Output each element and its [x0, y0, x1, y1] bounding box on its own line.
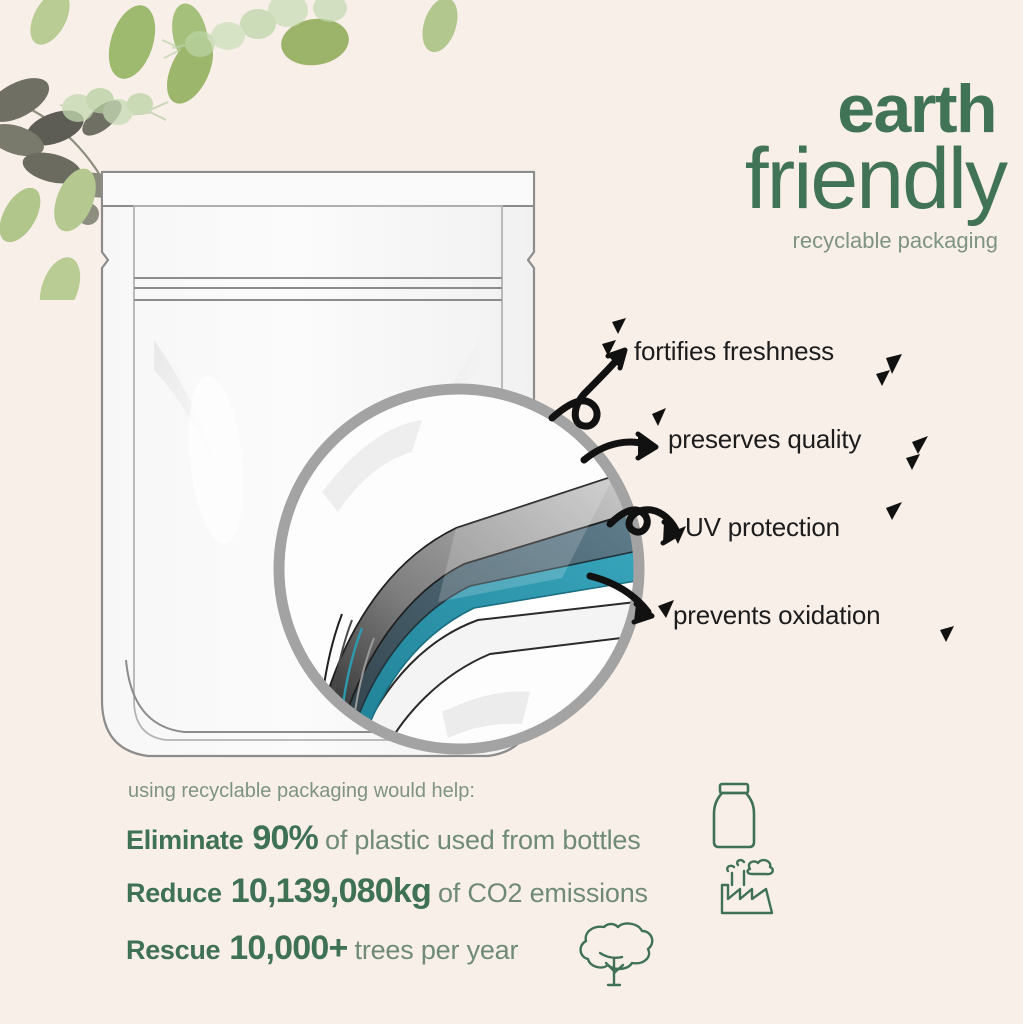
stat-row: Rescue 10,000+ trees per year: [126, 929, 846, 968]
tree-icon: [574, 915, 660, 991]
stat-number: 10,139,080kg: [231, 872, 431, 911]
stat-verb: Reduce: [126, 878, 222, 909]
callout-label-preserves-quality: preserves quality: [668, 424, 861, 455]
callout-arrow-2-head: [663, 522, 680, 543]
eucalyptus-sprig-top: [162, 0, 347, 58]
pouch-top-seal: [102, 172, 534, 206]
stat-tail: of plastic used from bottles: [325, 825, 641, 856]
stat-number: 10,000+: [229, 929, 347, 968]
headline-block: earth friendly recyclable packaging: [586, 78, 1006, 254]
bottle-icon: [706, 780, 762, 852]
stat-tail: of CO2 emissions: [438, 878, 648, 909]
earth-friendly-packaging-infographic: earth friendly recyclable packaging: [0, 0, 1023, 1024]
callout-arrow-0-head: [608, 350, 625, 368]
stat-verb: Eliminate: [126, 825, 243, 856]
magnified-layer-view: [262, 372, 656, 766]
stat-number: 90%: [252, 819, 318, 858]
factory-icon: [716, 855, 778, 917]
headline-line-2: friendly: [586, 139, 1006, 221]
stat-tail: trees per year: [355, 935, 519, 966]
callout-label-prevents-oxidation: prevents oxidation: [673, 600, 880, 631]
eucalyptus-sprig: [60, 88, 168, 125]
callout-label-fortifies-freshness: fortifies freshness: [634, 336, 834, 367]
callout-label-uv-protection: UV protection: [685, 512, 840, 543]
stat-verb: Rescue: [126, 935, 220, 966]
headline-subtitle: recyclable packaging: [586, 228, 1006, 254]
